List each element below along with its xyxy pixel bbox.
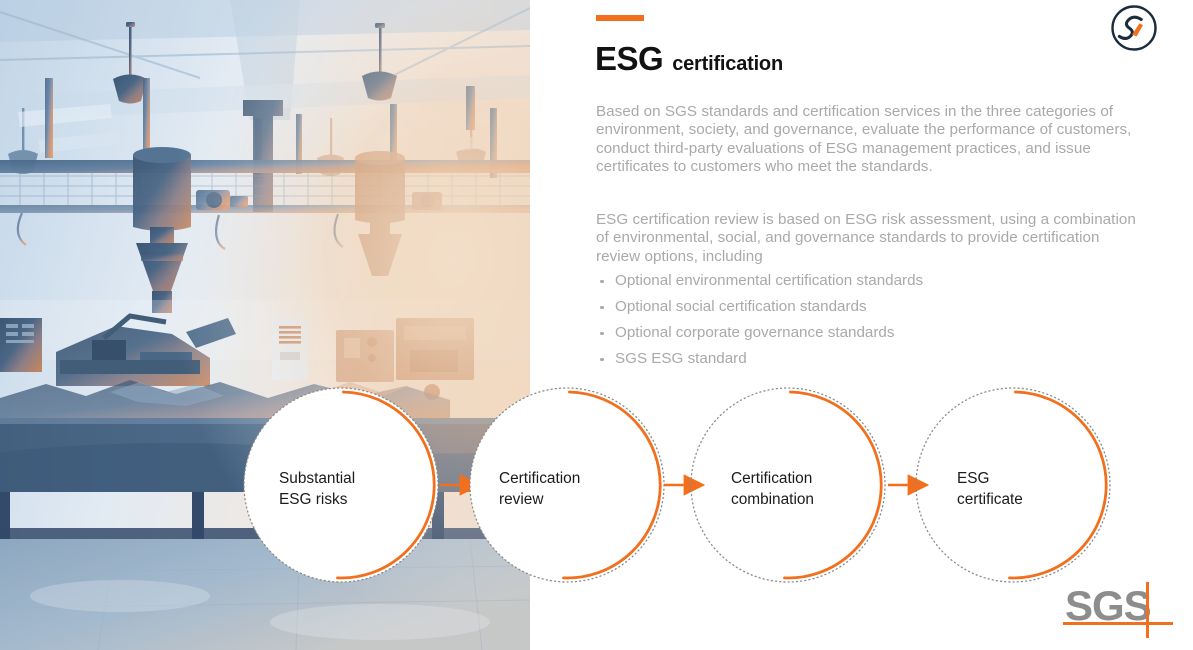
page-title: ESG certification [595, 40, 783, 78]
factory-photo-illustration [0, 0, 530, 650]
content-panel: ESG certification Based on SGS standards… [530, 0, 1193, 650]
slide-root: ESG certification Based on SGS standards… [0, 0, 1193, 650]
step-2-label: Certification review [499, 468, 580, 510]
sgs-wordmark-logo: SGS [1063, 580, 1183, 640]
step-1-label: Substantial ESG risks [279, 468, 355, 510]
page-title-sub: certification [672, 53, 783, 76]
list-item: Optional social certification standards [596, 294, 1116, 320]
intro-paragraph: Based on SGS standards and certification… [596, 103, 1136, 176]
sgs-cross-horizontal [1063, 622, 1173, 625]
step-3-label: Certification combination [731, 468, 814, 510]
sgs-cross-vertical [1146, 582, 1149, 638]
list-item: Optional environmental certification sta… [596, 268, 1116, 294]
factory-photo [0, 0, 530, 650]
standards-bullet-list: Optional environmental certification sta… [596, 268, 1116, 372]
step-4-label: ESG certificate [957, 468, 1023, 510]
sgs-wordmark-text: SGS [1065, 582, 1151, 629]
list-item: SGS ESG standard [596, 346, 1116, 372]
accent-bar [596, 15, 644, 21]
sgs-round-logo-icon [1108, 2, 1160, 54]
page-title-main: ESG [595, 40, 663, 78]
list-item: Optional corporate governance standards [596, 320, 1116, 346]
review-paragraph: ESG certification review is based on ESG… [596, 211, 1136, 266]
